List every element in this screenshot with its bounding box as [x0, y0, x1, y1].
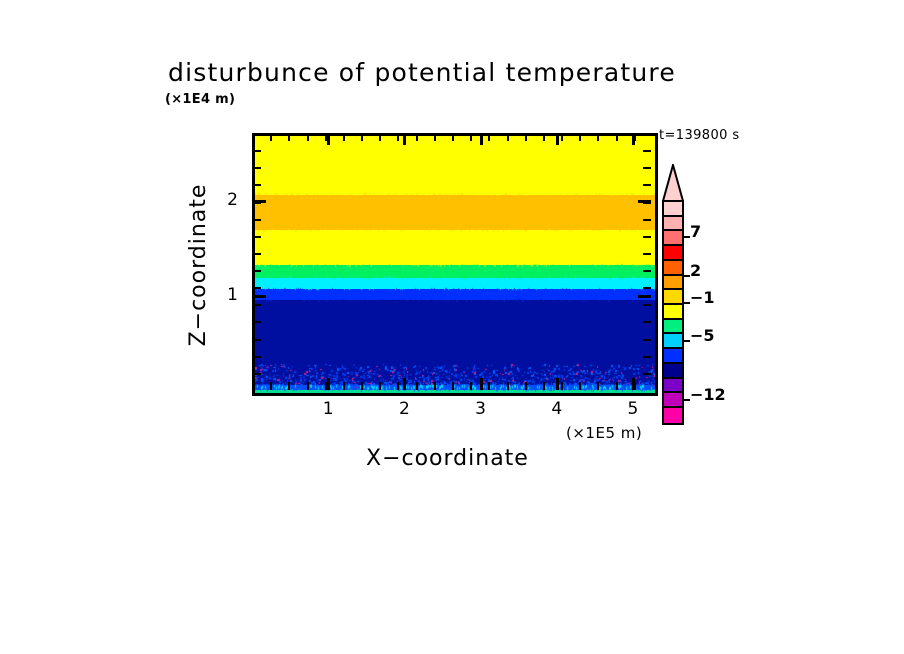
y-axis-title-text: Z−coordinate	[186, 165, 211, 365]
colorbar-cell	[664, 246, 682, 261]
x-axis-minor-tick	[434, 382, 436, 390]
y-axis-minor-tick	[253, 236, 261, 238]
heatmap-band	[255, 265, 655, 277]
x-axis-minor-tick	[525, 382, 527, 390]
heatmap-canvas	[255, 136, 655, 393]
colorbar-cell	[664, 349, 682, 364]
plot-frame	[252, 133, 658, 396]
x-axis-minor-tick-top	[379, 134, 381, 141]
colorbar-tick-mark	[684, 236, 690, 238]
x-axis-major-tick	[480, 378, 483, 390]
colorbar-tick-label: −5	[690, 326, 715, 345]
colorbar-cell	[664, 379, 682, 394]
x-axis-minor-tick	[579, 382, 581, 390]
y-axis-major-tick-right	[638, 200, 651, 203]
x-axis-minor-tick-top	[470, 134, 472, 141]
x-axis-minor-tick	[616, 382, 618, 390]
y-axis-minor-tick	[253, 150, 261, 152]
x-axis-tick-label: 4	[542, 399, 572, 419]
x-axis-major-tick-top	[556, 134, 559, 145]
x-axis-minor-tick-top	[543, 134, 545, 141]
x-axis-minor-tick	[488, 382, 490, 390]
y-axis-minor-tick-right	[643, 150, 651, 152]
heatmap-band	[255, 136, 655, 195]
y-axis-minor-tick	[253, 219, 261, 221]
heatmap-band	[255, 230, 655, 265]
colorbar-cell	[664, 202, 682, 217]
x-axis-tick-label: 3	[466, 399, 496, 419]
y-axis-minor-tick-right	[643, 373, 651, 375]
colorbar-cell	[664, 364, 682, 379]
x-axis-major-tick-top	[632, 134, 635, 145]
colorbar-tick-mark	[684, 399, 690, 401]
x-axis-minor-tick	[379, 382, 381, 390]
y-axis-minor-tick-right	[643, 253, 651, 255]
y-axis-minor-tick-right	[643, 236, 651, 238]
x-axis-units-label: (×1E5 m)	[566, 424, 642, 442]
x-axis-title: X−coordinate	[366, 446, 529, 471]
colorbar-cell	[664, 305, 682, 320]
y-axis-minor-tick	[253, 356, 261, 358]
colorbar-tick-label: 7	[690, 222, 701, 241]
colorbar-tick-label: −1	[690, 288, 715, 307]
x-axis-minor-tick-top	[343, 134, 345, 141]
x-axis-minor-tick-top	[307, 134, 309, 141]
x-axis-minor-tick	[416, 382, 418, 390]
x-axis-minor-tick	[561, 382, 563, 390]
timestamp-annotation: t=139800 s	[659, 128, 740, 143]
x-axis-minor-tick-top	[616, 134, 618, 141]
x-axis-minor-tick-top	[416, 134, 418, 141]
y-axis-title: Z−coordinate	[186, 0, 211, 165]
y-axis-minor-tick-right	[643, 287, 651, 289]
x-axis-minor-tick-top	[488, 134, 490, 141]
y-axis-minor-tick	[253, 184, 261, 186]
y-axis-major-tick-right	[638, 295, 651, 298]
x-axis-minor-tick-top	[434, 134, 436, 141]
x-axis-minor-tick	[307, 382, 309, 390]
x-axis-major-tick	[403, 378, 406, 390]
x-axis-minor-tick-top	[579, 134, 581, 141]
x-axis-minor-tick-top	[561, 134, 563, 141]
x-axis-minor-tick-top	[452, 134, 454, 141]
y-axis-minor-tick-right	[643, 270, 651, 272]
x-axis-minor-tick	[597, 382, 599, 390]
y-axis-minor-tick-right	[643, 167, 651, 169]
x-axis-minor-tick	[288, 382, 290, 390]
y-axis-major-tick	[253, 295, 266, 298]
y-axis-minor-tick	[253, 253, 261, 255]
x-axis-major-tick-top	[327, 134, 330, 145]
x-axis-minor-tick	[361, 382, 363, 390]
x-axis-minor-tick-top	[270, 134, 272, 141]
y-axis-minor-tick	[253, 304, 261, 306]
y-axis-minor-tick-right	[643, 304, 651, 306]
heatmap-band	[255, 289, 655, 300]
y-axis-major-tick	[253, 200, 266, 203]
colorbar-tick-mark	[684, 340, 690, 342]
colorbar-cell	[664, 408, 682, 423]
x-axis-major-tick	[327, 378, 330, 390]
x-axis-minor-tick	[470, 382, 472, 390]
heatmap-band	[255, 300, 655, 385]
colorbar-cell	[664, 290, 682, 305]
y-axis-minor-tick	[253, 339, 261, 341]
x-axis-minor-tick	[270, 382, 272, 390]
x-axis-major-tick-top	[403, 134, 406, 145]
y-axis-minor-tick-right	[643, 356, 651, 358]
x-axis-major-tick	[632, 378, 635, 390]
colorbar-extend-arrow-icon	[662, 164, 684, 202]
y-axis-minor-tick-right	[643, 321, 651, 323]
colorbar-tick-label: 2	[690, 261, 701, 280]
heatmap-band	[255, 195, 655, 231]
heatmap-band	[255, 278, 655, 289]
x-axis-minor-tick	[507, 382, 509, 390]
x-axis-minor-tick-top	[288, 134, 290, 141]
colorbar-cell	[664, 334, 682, 349]
y-axis-minor-tick	[253, 270, 261, 272]
x-axis-minor-tick-top	[397, 134, 399, 141]
x-axis-minor-tick-top	[361, 134, 363, 141]
colorbar-cell	[664, 261, 682, 276]
colorbar-cell	[664, 276, 682, 291]
y-axis-minor-tick-right	[643, 219, 651, 221]
x-axis-major-tick-top	[480, 134, 483, 145]
x-axis-minor-tick	[452, 382, 454, 390]
x-axis-minor-tick-top	[597, 134, 599, 141]
x-axis-minor-tick	[343, 382, 345, 390]
y-axis-minor-tick	[253, 287, 261, 289]
x-axis-tick-label: 2	[389, 399, 419, 419]
colorbar-cell	[664, 231, 682, 246]
y-axis-minor-tick	[253, 167, 261, 169]
x-axis-minor-tick	[543, 382, 545, 390]
y-axis-minor-tick	[253, 321, 261, 323]
x-axis-minor-tick	[397, 382, 399, 390]
x-axis-major-tick	[556, 378, 559, 390]
y-axis-minor-tick	[253, 373, 261, 375]
y-axis-minor-tick-right	[643, 184, 651, 186]
y-axis-minor-tick-right	[643, 339, 651, 341]
x-axis-tick-label: 1	[313, 399, 343, 419]
colorbar-tick-label: −12	[690, 385, 726, 404]
x-axis-minor-tick-top	[507, 134, 509, 141]
colorbar-cell	[664, 217, 682, 232]
page-title: disturbunce of potential temperature	[168, 58, 676, 87]
y-axis-tick-label: 1	[208, 285, 238, 305]
colorbar-tick-mark	[684, 275, 690, 277]
colorbar-gradient	[662, 200, 684, 425]
heatmap-band	[255, 390, 655, 393]
colorbar-cell	[664, 320, 682, 335]
x-axis-minor-tick-top	[525, 134, 527, 141]
x-axis-tick-label: 5	[618, 399, 648, 419]
y-axis-tick-label: 2	[208, 190, 238, 210]
colorbar-tick-mark	[684, 302, 690, 304]
colorbar-cell	[664, 393, 682, 408]
